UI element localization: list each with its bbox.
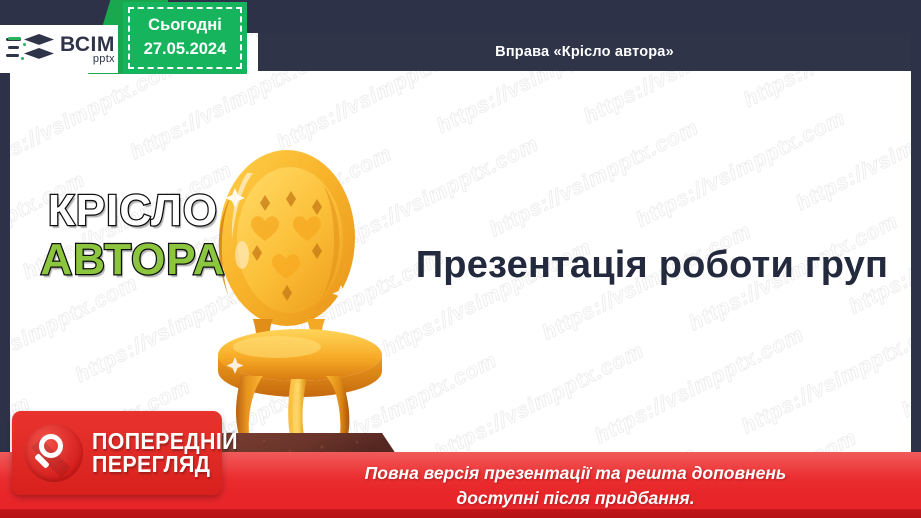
graduation-cap-icon (6, 32, 58, 66)
date-badge-label: Сьогодні (148, 14, 222, 38)
preview-badge-line-1: ПОПЕРЕДНІЙ (92, 430, 238, 453)
purchase-notice-line-1: Повна версія презентації та решта доповн… (243, 461, 908, 486)
logo-name: ВСІМ (60, 34, 115, 55)
date-badge: Сьогодні 27.05.2024 (123, 2, 247, 74)
chair-illustration (195, 133, 410, 463)
preview-badge-line-2: ПЕРЕГЛЯД (92, 453, 238, 476)
slide-titlebar: Вправа «Крісло автора» (258, 33, 911, 71)
presentation-slide: https://vsimpptx.comhttps://vsimpptx.com… (0, 0, 921, 518)
purchase-notice-line-2: доступні після придбання. (243, 486, 908, 511)
date-badge-value: 27.05.2024 (144, 38, 227, 62)
main-title: Презентація роботи груп (402, 238, 902, 293)
titlebar-text: Вправа «Крісло автора» (495, 44, 674, 60)
brand-logo[interactable]: ВСІМ pptx (0, 25, 118, 73)
preview-badge[interactable]: ПОПЕРЕДНІЙ ПЕРЕГЛЯД (12, 411, 222, 495)
slide-heading: КРІСЛО АВТОРА (28, 188, 238, 283)
logo-wordmark: ВСІМ pptx (60, 34, 115, 65)
heading-line-1: КРІСЛО (28, 188, 238, 233)
preview-badge-text: ПОПЕРЕДНІЙ ПЕРЕГЛЯД (92, 430, 249, 477)
heading-line-2: АВТОРА (28, 237, 238, 282)
magnifier-icon (25, 424, 83, 482)
purchase-notice-text: Повна версія презентації та решта доповн… (243, 461, 908, 511)
